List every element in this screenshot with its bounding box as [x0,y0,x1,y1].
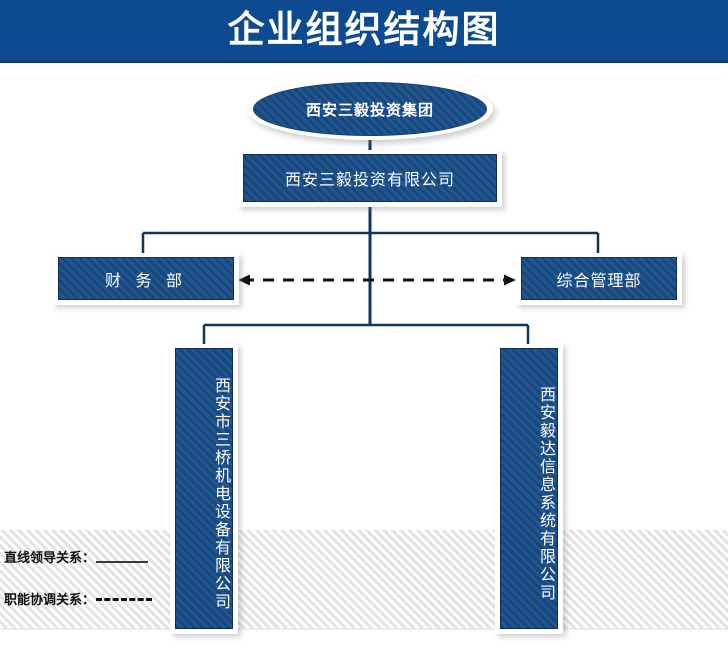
legend: 直线领导关系： 职能协调关系： [4,540,174,620]
legend-item-functional-coordination: 职能协调关系： [4,588,152,608]
org-node-subsidiary-yida[interactable]: 西安毅达信息系统有限公司 [500,348,558,629]
org-node-subsidiary-sanqiao[interactable]: 西安市三桥机电设备有限公司 [175,348,233,629]
org-chart-canvas: 企业组织结构图 西安三毅投资集团 西安三毅投资有限公司 财 务 部 综合管理部 … [0,0,728,666]
page-title: 企业组织结构图 [0,0,728,63]
org-node-finance-department[interactable]: 财 务 部 [58,257,234,300]
org-node-general-management-department[interactable]: 综合管理部 [521,257,677,300]
legend-solid-line-sample [96,561,148,563]
legend-label-direct-leadership: 直线领导关系： [4,547,95,566]
legend-label-functional-coordination: 职能协调关系： [4,589,95,608]
org-node-group[interactable]: 西安三毅投资集团 [253,82,487,136]
legend-item-direct-leadership: 直线领导关系： [4,546,148,566]
org-node-company[interactable]: 西安三毅投资有限公司 [243,154,497,202]
legend-dashed-line-sample [96,598,152,601]
